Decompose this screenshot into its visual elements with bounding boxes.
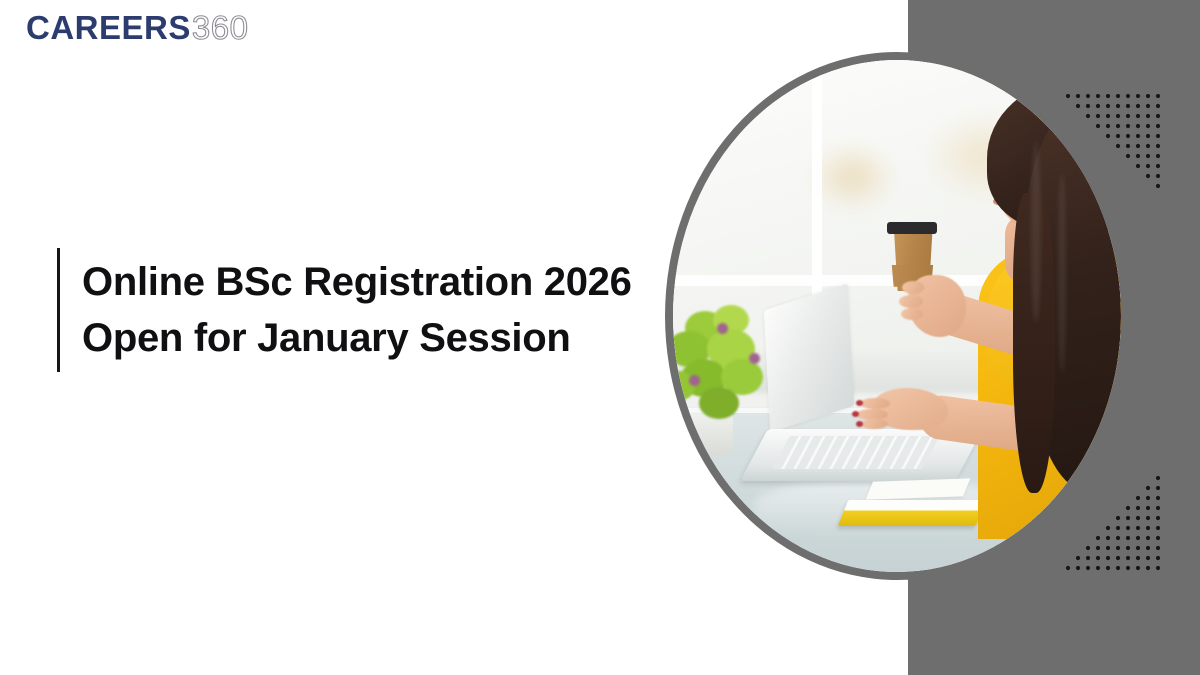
laptop-keyboard (772, 436, 940, 469)
careers360-logo[interactable]: CAREERS 360 (26, 11, 248, 44)
coffee-cup-lid (887, 222, 937, 234)
headline-block: Online BSc Registration 2026 Open for Ja… (57, 248, 642, 372)
promo-banner: CAREERS 360 Online BSc Registration 2026… (0, 0, 1200, 675)
paper-sheet (866, 478, 971, 499)
laptop-screen (764, 283, 854, 432)
student-photo (673, 60, 1121, 572)
photo-circle-frame (665, 52, 1129, 580)
headline-accent-bar (57, 248, 60, 372)
page-title: Online BSc Registration 2026 Open for Ja… (82, 248, 642, 372)
logo-360-text: 360 (192, 11, 249, 44)
photo-scene (673, 60, 1121, 572)
logo-careers-text: CAREERS (26, 11, 191, 44)
yellow-notebook (838, 500, 987, 526)
